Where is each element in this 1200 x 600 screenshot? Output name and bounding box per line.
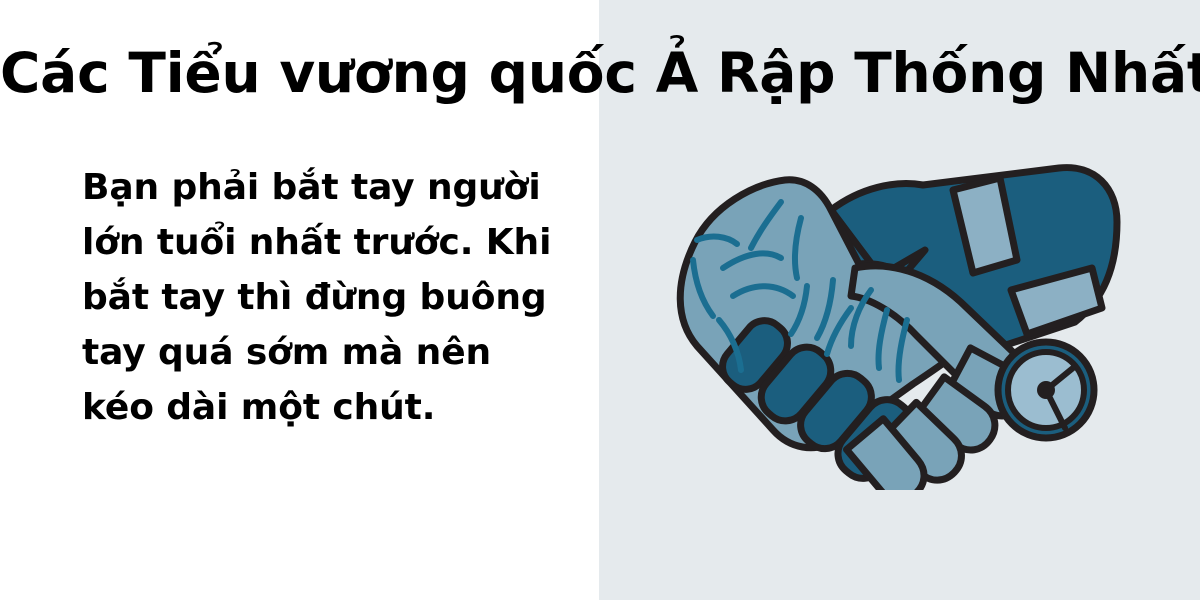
page-title: Các Tiểu vương quốc Ả Rập Thống Nhất (0, 40, 1200, 106)
slide-canvas: Các Tiểu vương quốc Ả Rập Thống Nhất Bạn… (0, 0, 1200, 600)
handshake-illustration (655, 140, 1125, 490)
body-paragraph: Bạn phải bắt tay người lớn tuổi nhất trư… (82, 160, 552, 435)
wristwatch (998, 342, 1094, 438)
